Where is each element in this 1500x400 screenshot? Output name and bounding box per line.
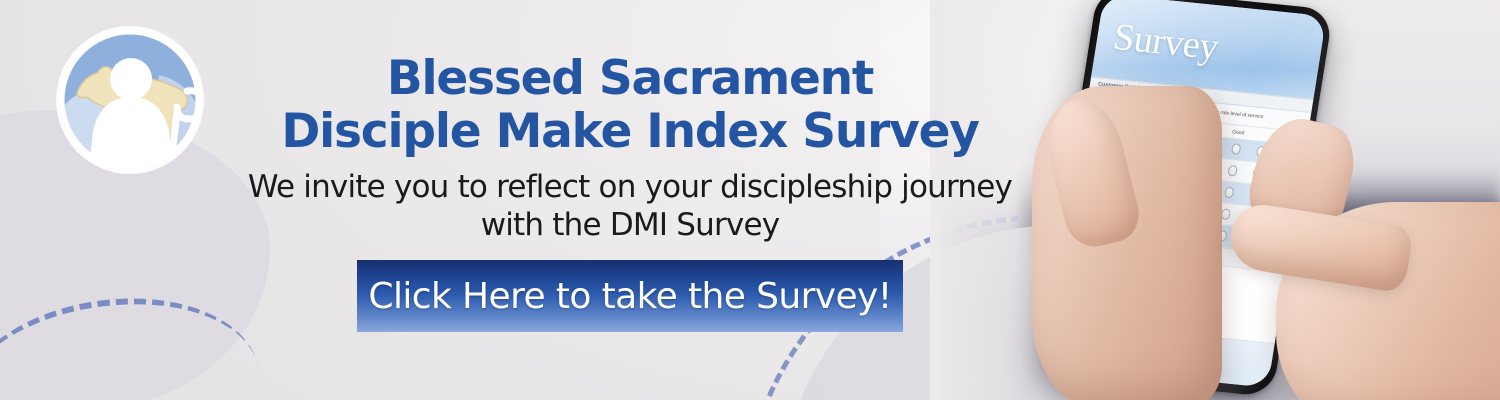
page-title: Blessed Sacrament Disciple Make Index Su… [281,52,978,158]
banner-content: Blessed Sacrament Disciple Make Index Su… [215,0,1045,400]
take-survey-button[interactable]: Click Here to take the Survey! [357,260,903,332]
headline-line-2: Disciple Make Index Survey [281,105,978,158]
radio-excellent[interactable] [1224,187,1235,199]
survey-app-title: Survey [1110,15,1221,69]
banner-subheading: We invite you to reflect on your discipl… [248,168,1012,244]
phone-in-hand-illustration: Survey Customer Satisfaction Survey Plea… [1040,0,1500,400]
subheading-line-2: with the DMI Survey [248,206,1012,244]
good-shepherd-logo [47,17,213,183]
survey-promo-banner: Blessed Sacrament Disciple Make Index Su… [0,0,1500,400]
radio-excellent[interactable] [1220,208,1231,220]
radio-excellent[interactable] [1231,143,1242,155]
subheading-line-1: We invite you to reflect on your discipl… [248,168,1012,206]
headline-line-1: Blessed Sacrament [281,52,978,105]
radio-excellent[interactable] [1227,165,1238,177]
column-header-good: Good [1225,128,1252,137]
